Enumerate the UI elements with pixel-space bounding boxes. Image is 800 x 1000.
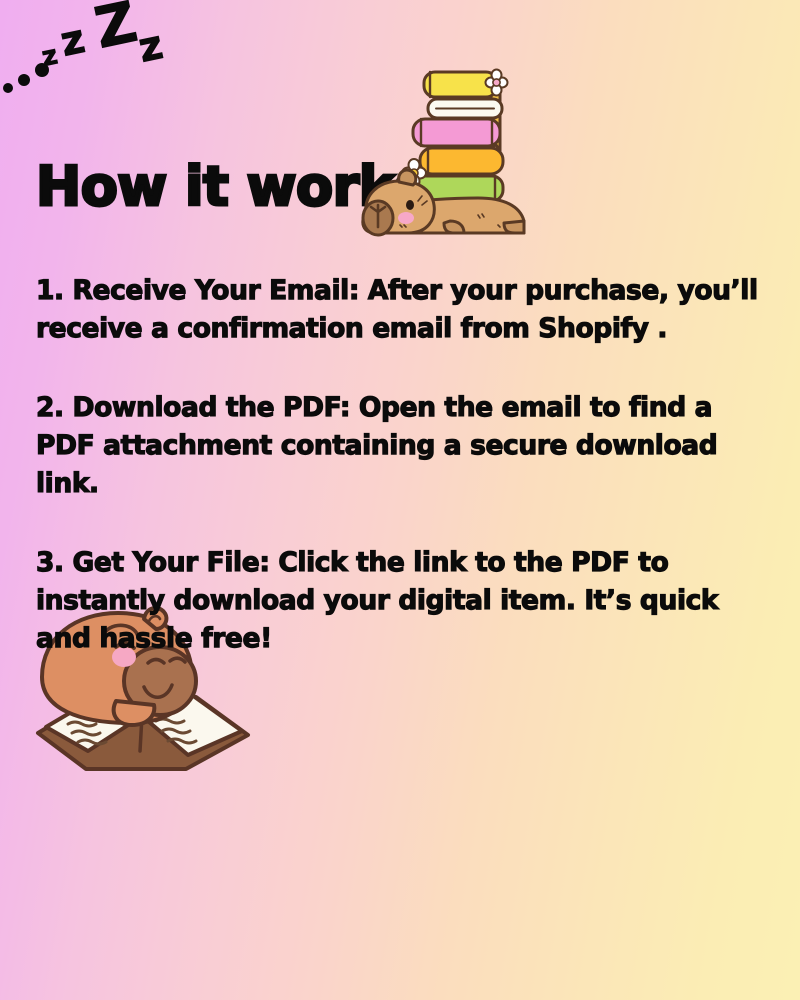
step-2: 2. Download the PDF: Open the email to f… [36, 389, 761, 503]
book-pink [413, 119, 500, 146]
front-paw [114, 701, 155, 725]
step-1: 1. Receive Your Email: After your purcha… [36, 272, 761, 348]
sleep-dot-2 [18, 74, 30, 86]
ear-icon [399, 170, 416, 185]
capybara-with-book-stack [352, 55, 552, 245]
book-cream [428, 99, 502, 118]
cheek [398, 212, 414, 224]
back-leg [504, 221, 524, 233]
sleep-dot-1 [3, 83, 13, 93]
poster-canvas: How it works [0, 0, 800, 1000]
eye [406, 200, 414, 210]
sleep-letter-2: z [57, 16, 89, 66]
sleep-letter-4: z [135, 22, 167, 72]
step-3: 3. Get Your File: Click the link to the … [36, 544, 761, 658]
book-orange [420, 148, 503, 174]
steps-list: 1. Receive Your Email: After your purcha… [36, 272, 761, 658]
